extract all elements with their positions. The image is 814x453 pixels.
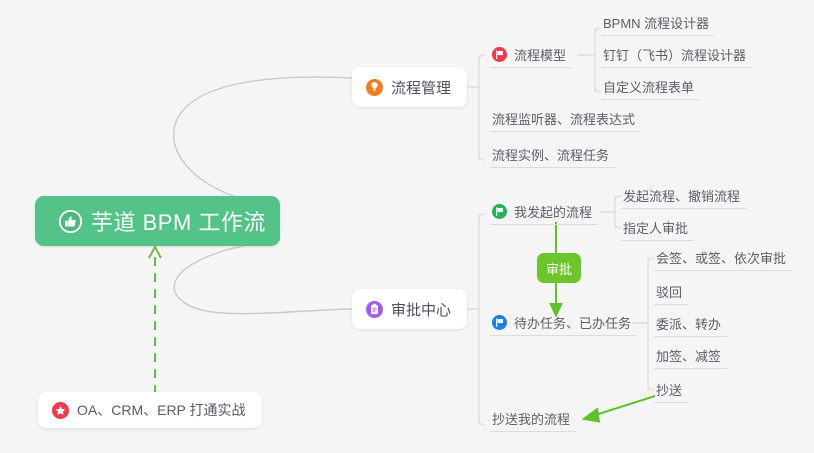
branch-approval-center-label: 审批中心 [391,299,451,320]
branch-process-management[interactable]: 流程管理 [352,67,467,107]
topic-todo-done-tasks[interactable]: 待办任务、已办任务 [490,310,637,336]
flag-icon-blue [492,315,507,330]
topic-todo-done-tasks-label: 待办任务、已办任务 [514,313,631,332]
topic-start-cancel-process-label: 发起流程、撤销流程 [623,186,740,205]
callout-integration-practice-label: OA、CRM、ERP 打通实战 [77,400,246,420]
arrow-cc-to-cc-my-head [583,408,600,422]
topic-process-instance[interactable]: 流程实例、流程任务 [490,142,615,168]
topic-assignee-approval-label: 指定人审批 [623,218,688,237]
wire-root-to-approval-center [174,240,352,314]
flag-icon-red [492,47,507,62]
topic-assignee-approval[interactable]: 指定人审批 [621,215,694,241]
topic-process-instance-label: 流程实例、流程任务 [492,145,609,164]
topic-start-cancel-process[interactable]: 发起流程、撤销流程 [621,183,746,209]
arrow-cc-to-cc-my [586,396,655,418]
topic-reject-label: 驳回 [656,282,682,301]
bracket-approval-center-cap-bottom [479,420,485,425]
topic-add-remove-sign-label: 加签、减签 [656,346,721,365]
topic-parallel-approval[interactable]: 会签、或签、依次审批 [654,245,792,271]
topic-delegate-transfer-label: 委派、转办 [656,314,721,333]
star-icon [52,402,69,419]
topic-add-remove-sign[interactable]: 加签、减签 [654,343,727,369]
branch-process-management-label: 流程管理 [391,77,451,98]
topic-process-listener-label: 流程监听器、流程表达式 [492,109,635,128]
bracket-process-management-cap-top [479,55,485,60]
topic-delegate-transfer[interactable]: 委派、转办 [654,311,727,337]
topic-parallel-approval-label: 会签、或签、依次审批 [656,248,786,267]
branch-approval-center[interactable]: 审批中心 [352,289,467,329]
flow-badge-approval-label: 审批 [546,259,572,278]
callout-integration-practice[interactable]: OA、CRM、ERP 打通实战 [38,392,262,428]
topic-bpmn-designer-label: BPMN 流程设计器 [603,13,709,32]
topic-process-model[interactable]: 流程模型 [490,42,572,68]
arrow-callout-to-root-head [149,247,161,258]
root-node[interactable]: 芋道 BPM 工作流 [35,196,280,246]
thumbs-up-icon [59,210,82,233]
topic-my-started-processes-label: 我发起的流程 [514,202,592,221]
topic-dingtalk-designer-label: 钉钉（飞书）流程设计器 [603,45,746,64]
lightbulb-icon [366,79,383,96]
flag-icon-green [492,204,507,219]
topic-bpmn-designer[interactable]: BPMN 流程设计器 [601,10,715,36]
topic-cc[interactable]: 抄送 [654,377,688,403]
topic-reject[interactable]: 驳回 [654,279,688,305]
topic-dingtalk-designer[interactable]: 钉钉（飞书）流程设计器 [601,42,752,68]
topic-cc-my-processes[interactable]: 抄送我的流程 [490,406,576,432]
topic-custom-form[interactable]: 自定义流程表单 [601,74,700,100]
topic-process-model-label: 流程模型 [514,45,566,64]
topic-custom-form-label: 自定义流程表单 [603,77,694,96]
topic-cc-my-processes-label: 抄送我的流程 [492,409,570,428]
bracket-approval-center-cap-top [479,214,485,219]
mindmap-canvas: 芋道 BPM 工作流 流程管理 流程模型 BPMN 流程设计器 钉钉（飞书）流程… [0,0,814,453]
bracket-process-management-cap-bottom [479,155,485,160]
root-label: 芋道 BPM 工作流 [91,205,266,237]
topic-my-started-processes[interactable]: 我发起的流程 [490,199,598,225]
clipboard-icon [366,301,383,318]
wire-root-to-process-management [174,77,352,206]
flow-badge-approval[interactable]: 审批 [537,253,581,283]
topic-process-listener[interactable]: 流程监听器、流程表达式 [490,106,641,132]
topic-cc-label: 抄送 [656,380,682,399]
